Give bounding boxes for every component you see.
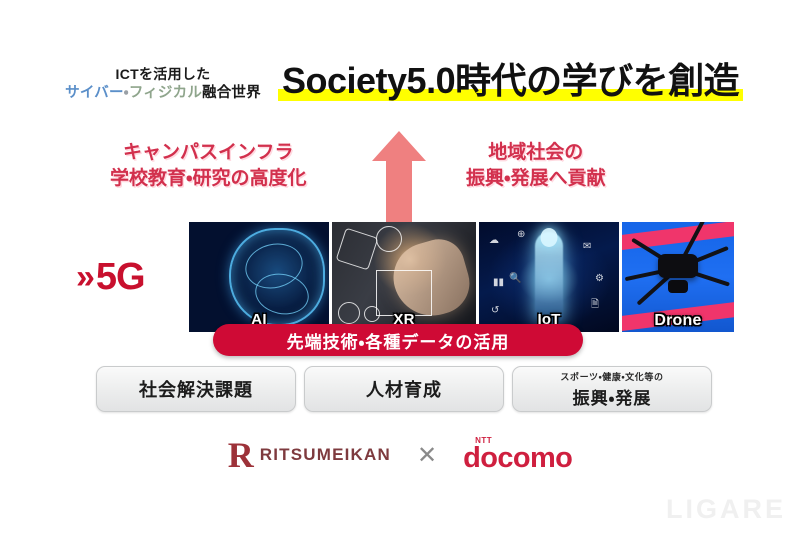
- five-g-label: 5G: [96, 258, 145, 296]
- panel-label-drone: Drone: [622, 312, 734, 330]
- technology-image-strip: AI XR ☁ ⊕ ✉ ⚙ ▮▮ 🔍 ↺ 🗎 IoT D: [189, 222, 734, 332]
- outcome-box-3-sublabel: スポーツ・健康・文化等の: [560, 370, 663, 383]
- hologram-frame: [376, 270, 432, 316]
- outcome-box-promotion-development[interactable]: スポーツ・健康・文化等の 振興・発展: [512, 366, 712, 412]
- ligare-watermark: LIGARE: [666, 494, 786, 525]
- document-icon: 🗎: [591, 300, 599, 310]
- up-arrow-icon: [372, 131, 426, 236]
- subtitle-line-2: サイバー・フィジカル融合世界: [38, 84, 288, 102]
- drone-body: [658, 254, 698, 278]
- main-title-text: Society5.0時代の学びを創造: [282, 60, 739, 101]
- page-title: Society5.0時代の学びを創造: [278, 58, 743, 105]
- subtitle-block: ICTを活用した サイバー・フィジカル融合世界: [38, 66, 288, 102]
- subtitle-physical: フィジカル: [129, 85, 202, 101]
- panel-iot: ☁ ⊕ ✉ ⚙ ▮▮ 🔍 ↺ 🗎 IoT: [479, 222, 619, 332]
- slide-header: ICTを活用した サイバー・フィジカル融合世界 Society5.0時代の学びを…: [0, 58, 800, 120]
- cloud-icon: ☁: [489, 236, 499, 246]
- ritsumeikan-wordmark: RITSUMEIKAN: [260, 445, 391, 465]
- caption-left-line-2: 学校教育・研究の高度化: [110, 166, 306, 192]
- cross-icon: ✕: [417, 441, 437, 470]
- globe-grid-icon: ⊕: [517, 230, 525, 240]
- outcome-box-social-issues[interactable]: 社会解決課題: [96, 366, 296, 412]
- chevron-double-right-icon: »: [76, 260, 89, 294]
- outcome-box-3-label: 振興・発展: [573, 384, 652, 409]
- caption-right: 地域社会の 振興・発展へ貢献: [466, 140, 605, 191]
- outcome-boxes: 社会解決課題 人材育成 スポーツ・健康・文化等の 振興・発展: [96, 366, 712, 412]
- caption-right-line-2: 振興・発展へ貢献: [466, 166, 605, 192]
- human-head-icon: [541, 228, 558, 247]
- ritsumeikan-logo: R RITSUMEIKAN: [228, 437, 391, 473]
- caption-right-line-1: 地域社会の: [466, 140, 605, 166]
- panel-ai: AI: [189, 222, 329, 332]
- subtitle-cyber: サイバー: [65, 85, 124, 101]
- panel-xr: XR: [332, 222, 476, 332]
- docomo-wordmark: docomo: [463, 442, 572, 474]
- envelope-icon: ✉: [583, 242, 591, 252]
- outcome-box-human-resources[interactable]: 人材育成: [304, 366, 504, 412]
- globe-icon: [376, 226, 402, 252]
- advanced-technology-banner: 先端技術・各種データの活用: [213, 324, 583, 356]
- main-title-wrap: Society5.0時代の学びを創造: [278, 58, 743, 105]
- docomo-logo: NTT docomo: [463, 438, 572, 473]
- caption-left-line-1: キャンパスインフラ: [110, 140, 306, 166]
- outcome-box-1-label: 社会解決課題: [139, 376, 253, 402]
- subtitle-line-1: ICTを活用した: [38, 66, 288, 84]
- five-g-logo: » 5G: [76, 258, 145, 296]
- subtitle-fusion: 融合世界: [202, 85, 261, 101]
- search-icon: 🔍: [509, 274, 521, 284]
- caption-left: キャンパスインフラ 学校教育・研究の高度化: [110, 140, 306, 191]
- ritsumeikan-r-mark-icon: R: [228, 437, 254, 473]
- outcome-box-2-label: 人材育成: [366, 376, 442, 402]
- drone-camera: [668, 280, 688, 293]
- partner-logos: R RITSUMEIKAN ✕ NTT docomo: [0, 432, 800, 478]
- gear-icon: ⚙: [595, 274, 604, 284]
- panel-drone: Drone: [622, 222, 734, 332]
- docomo-ntt-mark: NTT: [475, 436, 492, 445]
- bar-chart-icon: ▮▮: [493, 278, 504, 288]
